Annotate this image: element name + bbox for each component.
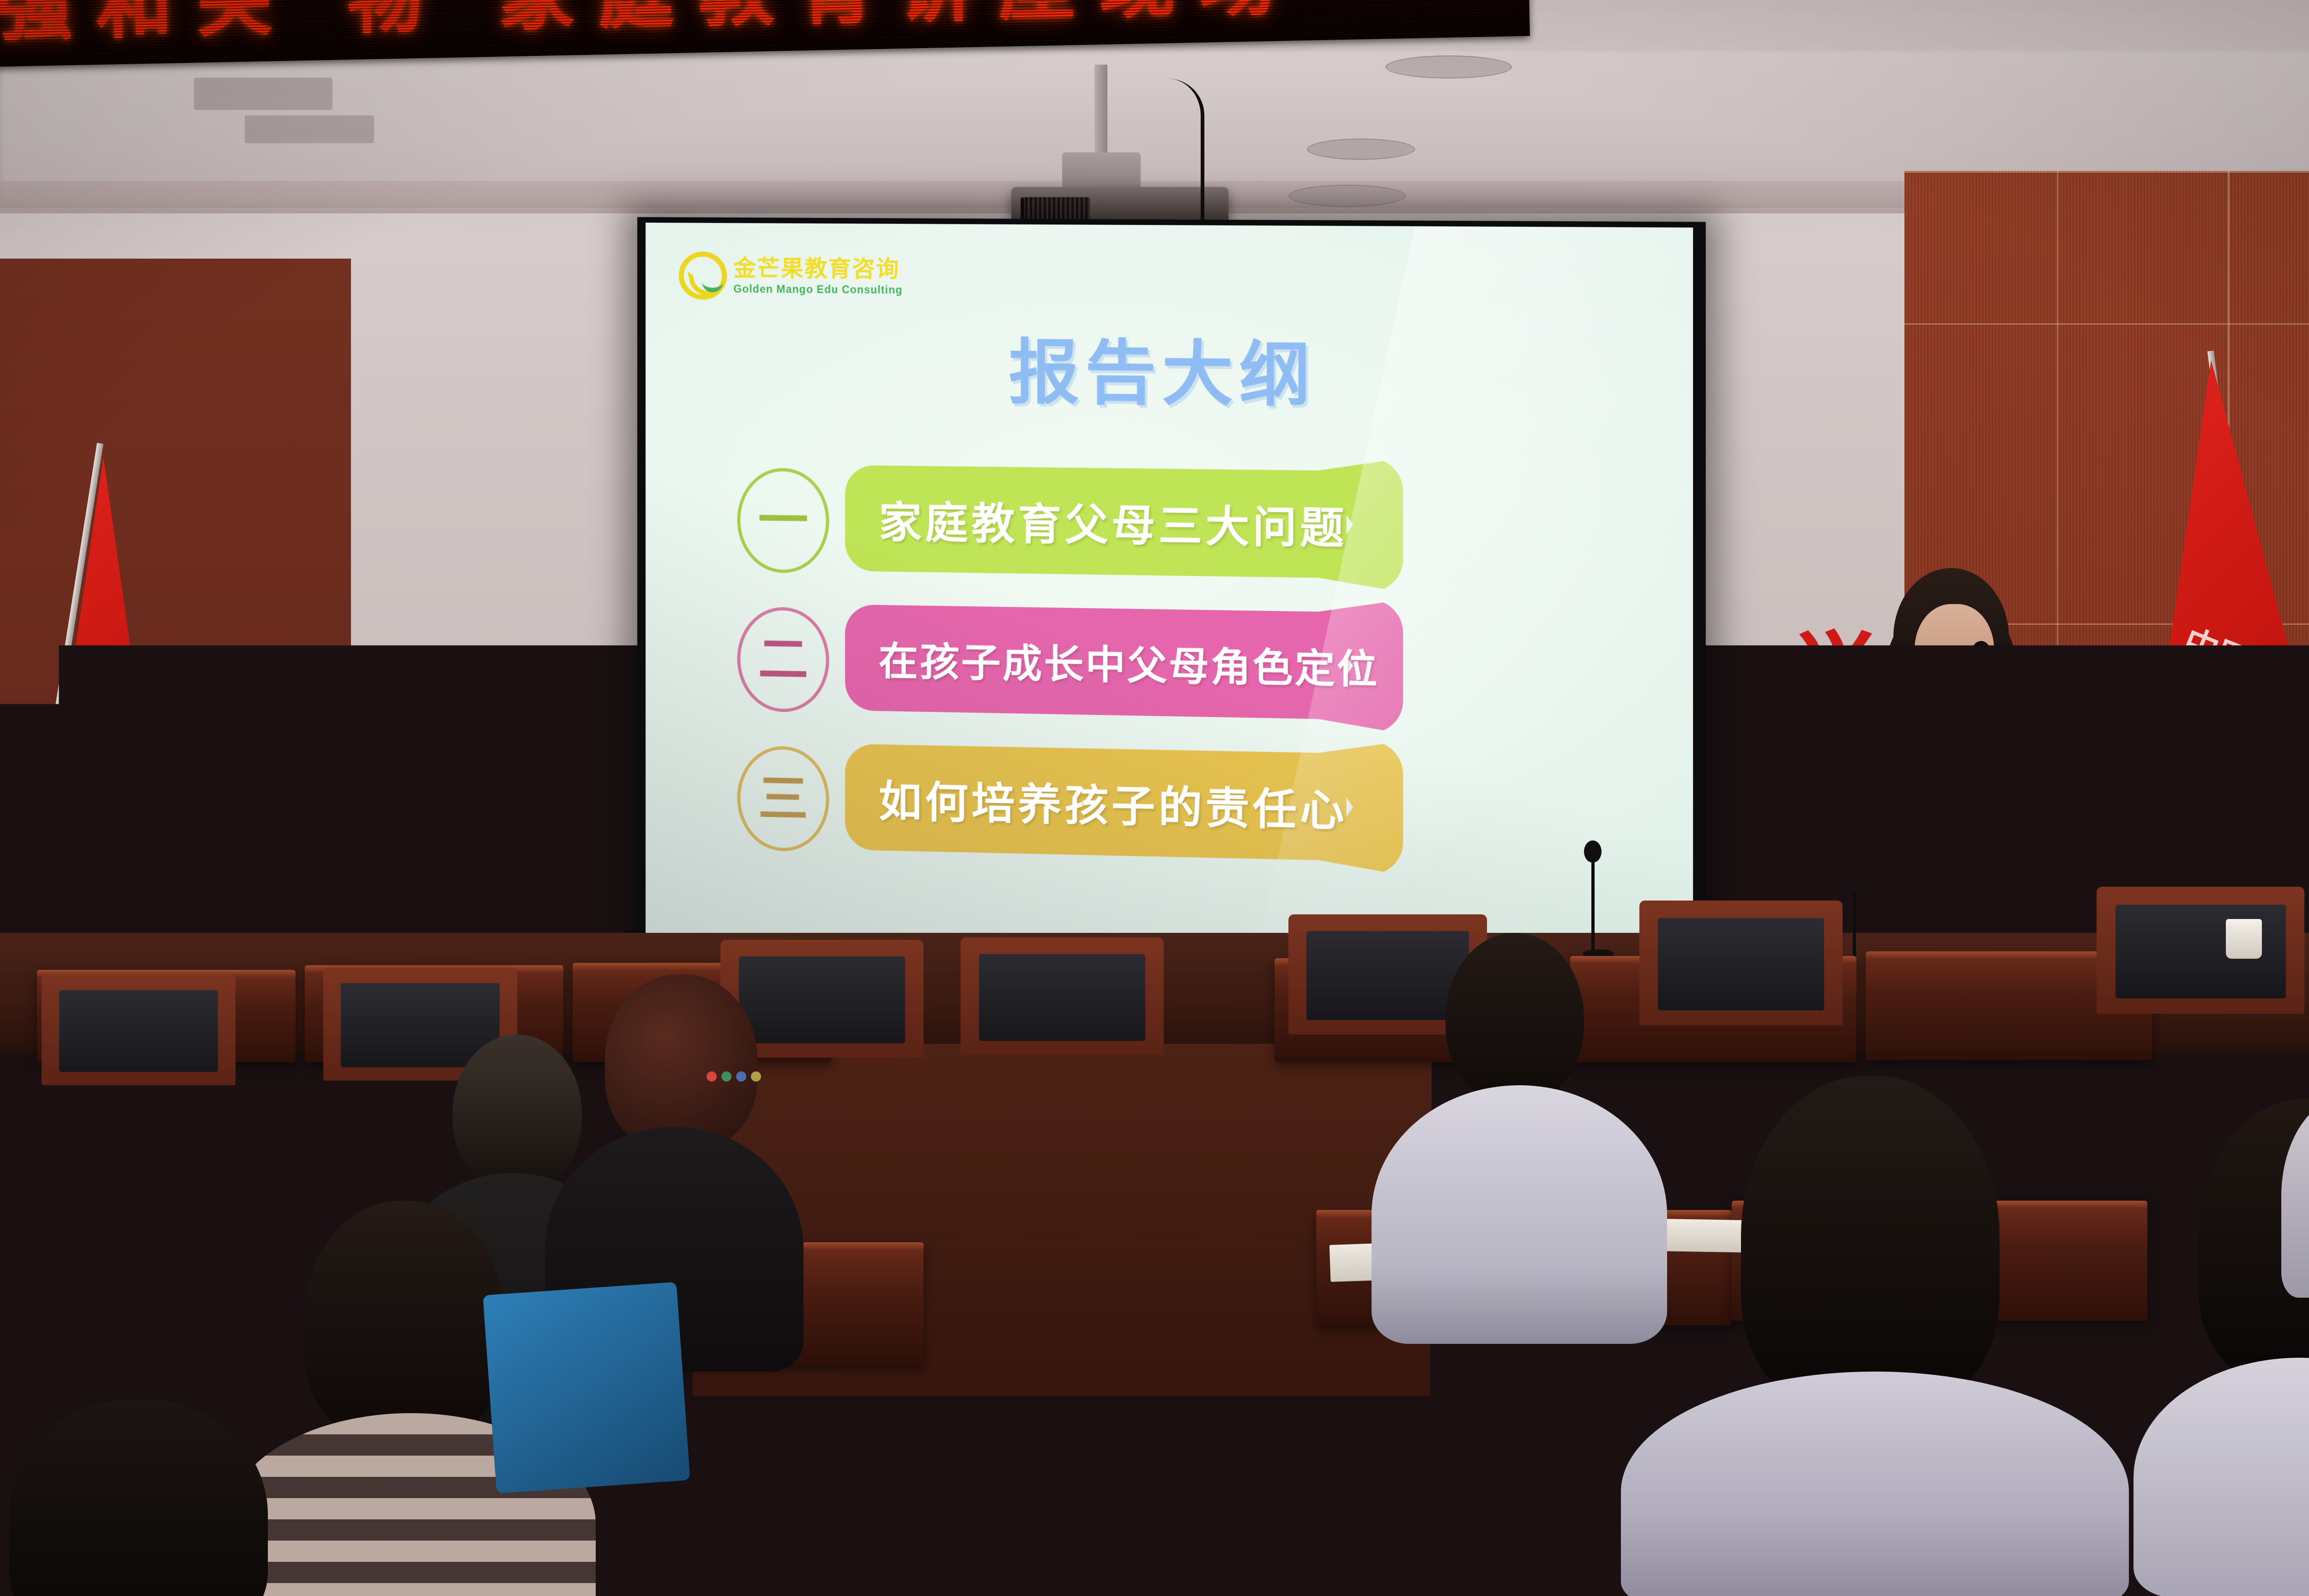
wall-sign-left-clip: 东明 The firs (379, 660, 637, 859)
bullet-ribbon: 家庭教育父母三大问题 (845, 465, 1347, 578)
audience-member (1593, 1076, 2147, 1596)
wall-sign-right-en: g Cou (1690, 748, 1825, 797)
indicator-dot (751, 1071, 761, 1082)
wall-sign-left-en: The firs (389, 799, 555, 845)
audience-torso (2281, 1094, 2309, 1298)
auditorium-chair (42, 974, 236, 1085)
projection-screen: 金芒果教育咨询 Golden Mango Edu Consulting 报告大纲… (646, 223, 1693, 975)
logo-english-name: Golden Mango Edu Consulting (733, 284, 902, 296)
indicator-dot (114, 1127, 124, 1137)
bullet-text: 家庭教育父母三大问题 (879, 488, 1348, 556)
indicator-dot (128, 1127, 139, 1137)
ceiling-vent (1385, 55, 1512, 79)
school-flag-right: 中国 Junior (2129, 351, 2309, 961)
indicator-dot (99, 1127, 109, 1137)
wall-sign-left-cn: 东明 (388, 670, 637, 804)
audience-head (28, 1099, 157, 1247)
tripod-hub (1140, 1055, 1209, 1097)
logo-chinese-name: 金芒果教育咨询 (733, 257, 902, 281)
audience-head (1741, 1076, 2000, 1409)
mic-indicator-light (1977, 655, 1983, 661)
bullet-ribbon: 如何培养孩子的责任心 (845, 744, 1347, 861)
audience-head (305, 1201, 503, 1441)
bullet-number-circle: 二 (737, 606, 829, 713)
slide-logo: 金芒果教育咨询 Golden Mango Edu Consulting (679, 251, 902, 301)
audience-torso (1621, 1372, 2129, 1596)
bullet-number-circle: 一 (737, 467, 829, 574)
audience-member (2281, 1067, 2309, 1298)
audience-head (1445, 933, 1584, 1104)
auditorium-photo: 强和关 物 家庭教育讲座现场 东明 The firs 中学 g Cou 金芒果教… (0, 0, 2309, 1596)
camera-tripod (1058, 961, 1298, 1596)
projection-screen-frame: 金芒果教育咨询 Golden Mango Edu Consulting 报告大纲… (637, 217, 1706, 983)
school-flag-left: 荣誉 (28, 443, 222, 979)
lcd-preview-bar (1144, 1009, 1185, 1014)
slide-bullet-item: 二 在孩子成长中父母角色定位 (715, 593, 1549, 748)
golden-mango-logo-icon (679, 251, 727, 300)
bullet-number-circle: 三 (737, 745, 829, 852)
lcd-preview-bar (1144, 1027, 1173, 1032)
audience-head (605, 974, 757, 1150)
camera-cable (1210, 993, 1264, 1372)
audience-member (0, 1399, 323, 1596)
indicator-dot (721, 1071, 731, 1082)
slide-title: 报告大纲 (646, 313, 1693, 424)
audience-head (9, 1399, 268, 1596)
ceiling-slat (194, 78, 332, 110)
microphone-stem (1853, 892, 1856, 961)
tripod-center-column (1167, 1071, 1181, 1265)
slide-bullet-item: 三 如何培养孩子的责任心 (715, 732, 1549, 890)
indicator-dot (707, 1071, 717, 1082)
indicator-dot (69, 1127, 79, 1137)
indicator-dot (84, 1127, 94, 1137)
bullet-text: 如何培养孩子的责任心 (879, 767, 1348, 839)
bullet-ribbon: 在孩子成长中父母角色定位 (845, 605, 1347, 719)
bullet-text: 在孩子成长中父母角色定位 (879, 630, 1379, 695)
camcorder-lcd-screen (1133, 986, 1204, 1041)
ceiling-slat (245, 115, 374, 143)
lcd-preview-bar (1144, 1018, 1178, 1023)
paper-cup (2226, 919, 2262, 959)
indicator-dot (736, 1071, 746, 1082)
ceiling-vent (1288, 185, 1406, 207)
bench-indicator-lights (707, 1071, 761, 1082)
ceiling-vent (1307, 139, 1415, 160)
led-marquee-text: 强和关 物 家庭教育讲座现场 (0, 0, 1300, 45)
slide-bullet-item: 一 家庭教育父母三大问题 (715, 454, 1549, 606)
auditorium-chair (2097, 887, 2304, 1014)
camera-hotshoe-accessory (1154, 948, 1186, 970)
audience-torso (2134, 1358, 2309, 1596)
slide-bullet-list: 一 家庭教育父母三大问题 二 在孩子成长中父母角色定位 三 如何培养孩子的责任心 (715, 454, 1549, 890)
blue-bag (483, 1282, 690, 1493)
chair-backrest-pad (59, 990, 218, 1072)
bench-indicator-lights (69, 1127, 139, 1137)
